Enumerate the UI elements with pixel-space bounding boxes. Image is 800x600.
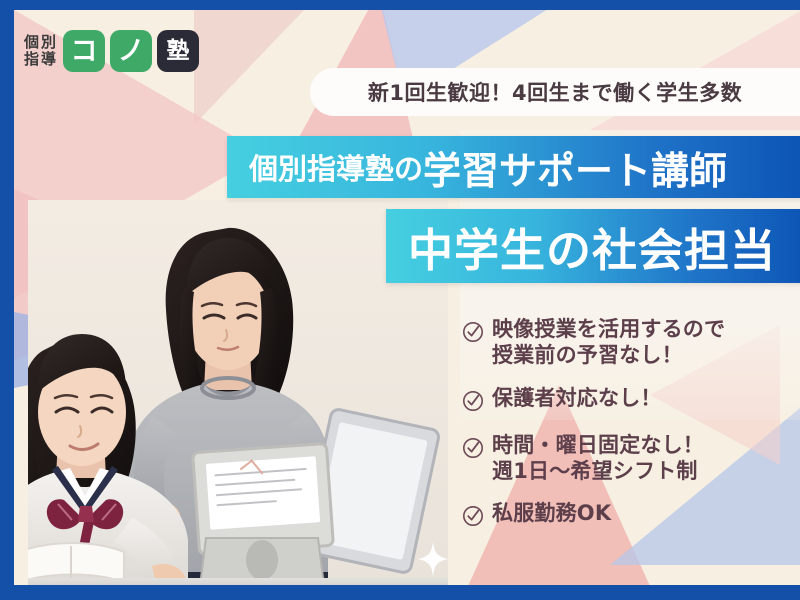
top-banner-pill: 新1回生歓迎！4回生まで働く学生多数 bbox=[310, 68, 800, 116]
benefits-list: 映像授業を活用するので 授業前の予習なし！ 保護者対応なし！ bbox=[462, 316, 792, 531]
photo-illustration bbox=[28, 200, 448, 585]
check-circle-icon bbox=[462, 505, 484, 531]
check-circle-icon bbox=[462, 437, 484, 463]
check-circle-icon bbox=[462, 390, 484, 416]
list-item: 私服勤務OK bbox=[462, 500, 792, 531]
list-item: 映像授業を活用するので 授業前の予習なし！ bbox=[462, 316, 792, 369]
logo-kanji-line-1: 個別 bbox=[24, 34, 58, 51]
top-banner-text: 新1回生歓迎！4回生まで働く学生多数 bbox=[368, 77, 742, 107]
logo-kanji-line-2: 指導 bbox=[24, 51, 58, 68]
list-item-label: 私服勤務OK bbox=[492, 500, 611, 526]
headline-subject: 中学生の社会担当 bbox=[408, 214, 776, 279]
logo-box-ko: コ bbox=[63, 30, 105, 72]
logo-box-juku: 塾 bbox=[157, 30, 199, 72]
headline-role: 学習サポート講師 bbox=[423, 140, 727, 195]
list-item-label: 映像授業を活用するので 授業前の予習なし！ bbox=[492, 316, 725, 369]
list-item: 保護者対応なし！ bbox=[462, 385, 792, 416]
headline-bar-primary: 個別指導塾の 学習サポート講師 bbox=[227, 136, 800, 198]
student-teacher-photo bbox=[28, 200, 448, 585]
recruitment-poster: 個別 指導 コ ノ 塾 新1回生歓迎！4回生まで働く学生多数 個別指導塾の 学習… bbox=[0, 0, 800, 600]
logo-kanji-prefix: 個別 指導 bbox=[24, 34, 58, 69]
headline-prefix: 個別指導塾の bbox=[249, 146, 423, 188]
list-item-label: 時間・曜日固定なし！ 週1日〜希望シフト制 bbox=[492, 432, 704, 485]
list-item: 時間・曜日固定なし！ 週1日〜希望シフト制 bbox=[462, 432, 792, 485]
logo-box-no: ノ bbox=[110, 30, 152, 72]
sparkle-icon bbox=[418, 542, 448, 580]
inner-panel: 個別 指導 コ ノ 塾 新1回生歓迎！4回生まで働く学生多数 個別指導塾の 学習… bbox=[14, 10, 800, 585]
list-item-label: 保護者対応なし！ bbox=[492, 385, 662, 411]
headline-bar-secondary: 中学生の社会担当 bbox=[386, 209, 800, 283]
brand-logo: 個別 指導 コ ノ 塾 bbox=[24, 30, 199, 72]
check-circle-icon bbox=[462, 321, 484, 347]
